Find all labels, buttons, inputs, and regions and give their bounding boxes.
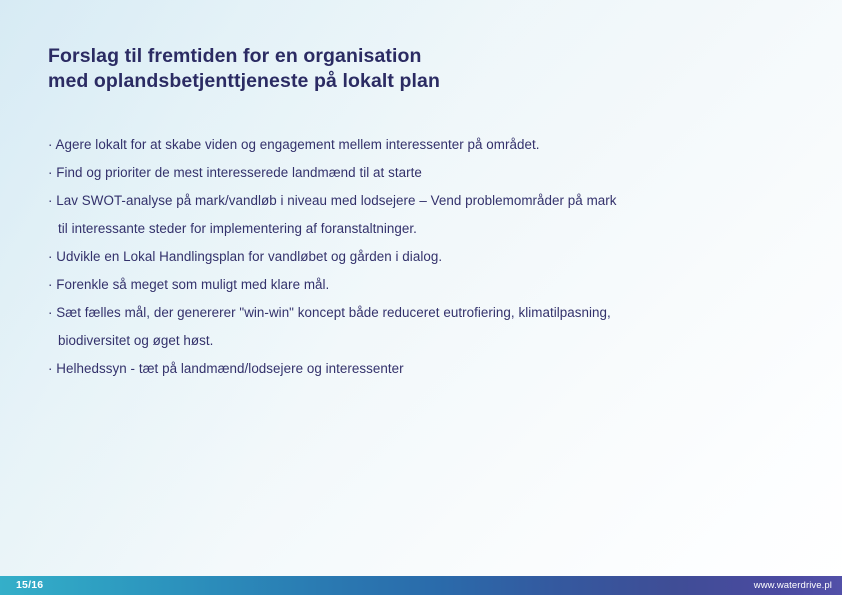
bullet-marker-icon: · (48, 361, 53, 376)
bullet-item: · Find og prioriter de mest interessered… (48, 159, 788, 187)
bullet-text: Helhedssyn - tæt på landmænd/lodsejere o… (56, 361, 403, 376)
bullet-item: · Helhedssyn - tæt på landmænd/lodsejere… (48, 355, 788, 383)
footer-website-url: www.waterdrive.pl (754, 576, 832, 595)
slide-title: Forslag til fremtiden for en organisatio… (48, 44, 748, 94)
bullet-text: Agere lokalt for at skabe viden og engag… (56, 137, 540, 152)
bullet-item: · Udvikle en Lokal Handlingsplan for van… (48, 243, 788, 271)
bullet-text: Sæt fælles mål, der genererer "win-win" … (56, 305, 611, 320)
bullet-text: biodiversitet og øget høst. (58, 333, 213, 348)
bullet-item: · Forenkle så meget som muligt med klare… (48, 271, 788, 299)
slide-body-list: · Agere lokalt for at skabe viden og eng… (48, 131, 788, 383)
bullet-continuation-line: til interessante steder for implementeri… (48, 215, 788, 243)
bullet-text: Forenkle så meget som muligt med klare m… (56, 277, 329, 292)
bullet-text: til interessante steder for implementeri… (58, 221, 417, 236)
bullet-item: · Lav SWOT-analyse på mark/vandløb i niv… (48, 187, 788, 215)
bullet-text: Lav SWOT-analyse på mark/vandløb i nivea… (56, 193, 616, 208)
bullet-item: · Sæt fælles mål, der genererer "win-win… (48, 299, 788, 327)
slide-title-line-2: med oplandsbetjenttjeneste på lokalt pla… (48, 69, 748, 94)
bullet-text: Find og prioriter de mest interesserede … (56, 165, 422, 180)
bullet-item: · Agere lokalt for at skabe viden og eng… (48, 131, 788, 159)
presentation-slide: Forslag til fremtiden for en organisatio… (0, 0, 842, 595)
bullet-marker-icon: · (48, 137, 53, 152)
footer-page-number: 15/16 (16, 576, 43, 595)
bullet-marker-icon: · (48, 305, 53, 320)
slide-footer-bar: 15/16 www.waterdrive.pl (0, 576, 842, 595)
bullet-marker-icon: · (48, 277, 53, 292)
bullet-marker-icon: · (48, 249, 53, 264)
bullet-continuation-line: biodiversitet og øget høst. (48, 327, 788, 355)
slide-title-line-1: Forslag til fremtiden for en organisatio… (48, 44, 748, 69)
bullet-text: Udvikle en Lokal Handlingsplan for vandl… (56, 249, 442, 264)
bullet-marker-icon: · (48, 165, 53, 180)
bullet-marker-icon: · (48, 193, 53, 208)
